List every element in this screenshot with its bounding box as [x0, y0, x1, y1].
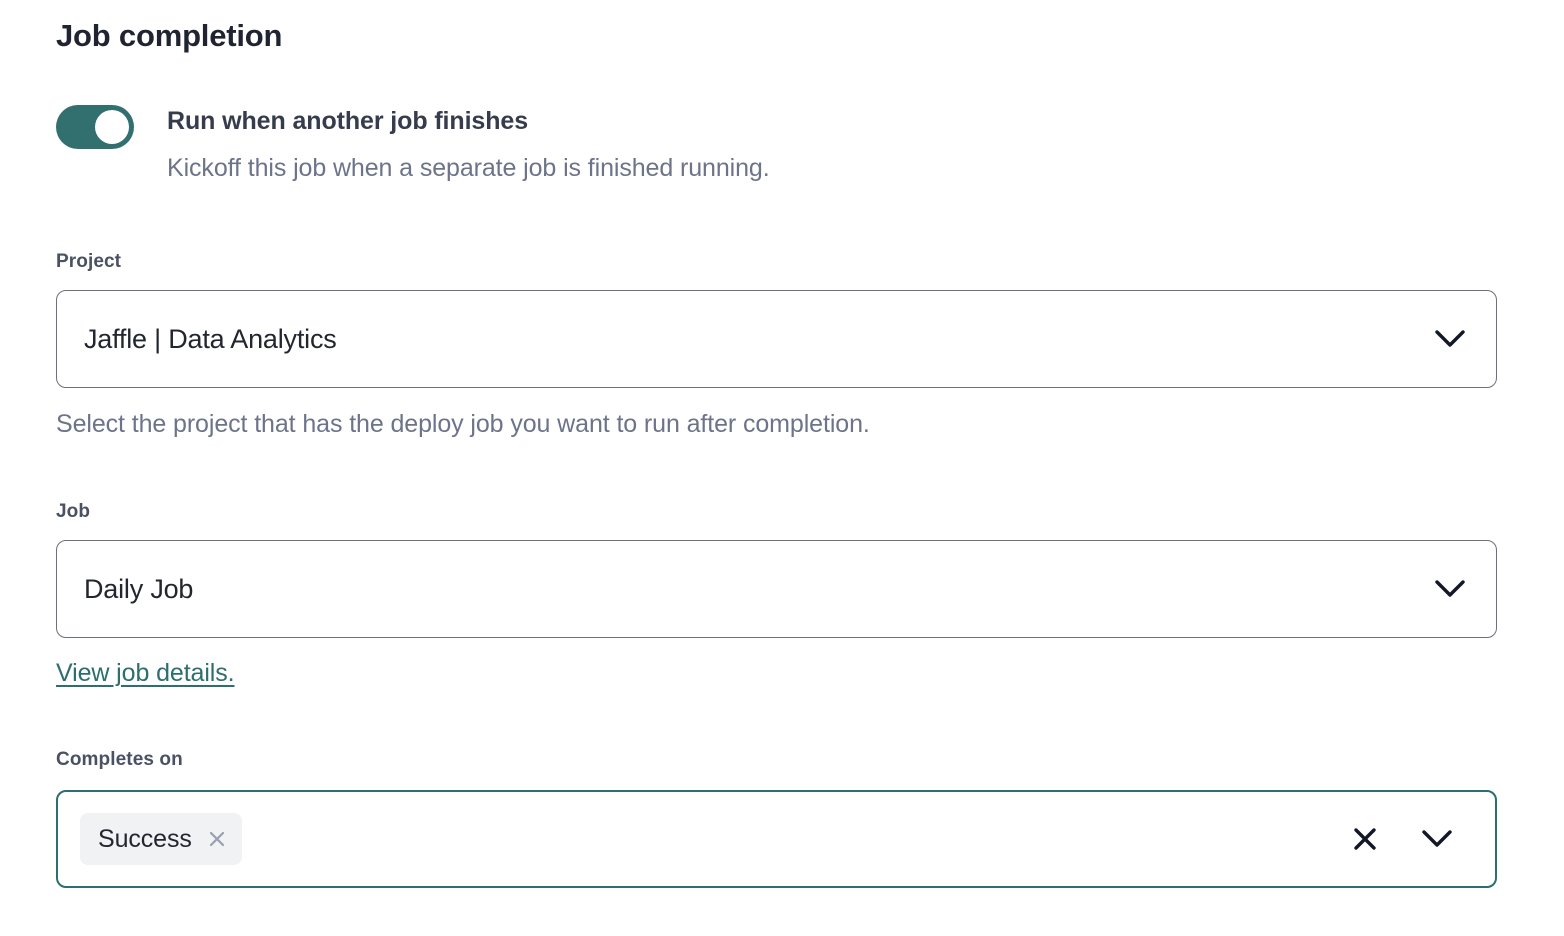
project-helper-text: Select the project that has the deploy j…: [56, 408, 870, 440]
toggle-text-group: Run when another job finishes Kickoff th…: [167, 104, 770, 184]
completes-on-field-label: Completes on: [56, 748, 183, 772]
chevron-down-icon[interactable]: [1415, 817, 1459, 861]
job-select[interactable]: Daily Job: [56, 540, 1497, 638]
run-when-another-job-finishes-row: Run when another job finishes Kickoff th…: [56, 104, 770, 184]
chip-label: Success: [98, 813, 192, 865]
run-when-another-job-finishes-toggle[interactable]: [56, 105, 134, 149]
project-select[interactable]: Jaffle | Data Analytics: [56, 290, 1497, 388]
job-completion-panel: Job completion Run when another job fini…: [0, 0, 1564, 936]
completes-on-actions: [1345, 817, 1495, 861]
completes-on-multiselect[interactable]: Success: [56, 790, 1497, 888]
completes-on-chips: Success: [58, 813, 1345, 865]
chip-success: Success: [80, 813, 242, 865]
project-field-label: Project: [56, 250, 121, 274]
close-icon[interactable]: [1345, 819, 1385, 859]
toggle-description: Kickoff this job when a separate job is …: [167, 152, 770, 184]
toggle-knob: [95, 110, 129, 144]
page-title: Job completion: [56, 16, 282, 56]
view-job-details-link[interactable]: View job details.: [56, 657, 235, 689]
chevron-down-icon[interactable]: [1428, 567, 1472, 611]
chevron-down-icon[interactable]: [1428, 317, 1472, 361]
job-field-label: Job: [56, 500, 90, 524]
toggle-label: Run when another job finishes: [167, 104, 770, 138]
job-select-value: Daily Job: [57, 572, 1428, 606]
project-select-value: Jaffle | Data Analytics: [57, 322, 1428, 356]
close-icon[interactable]: [206, 828, 228, 850]
